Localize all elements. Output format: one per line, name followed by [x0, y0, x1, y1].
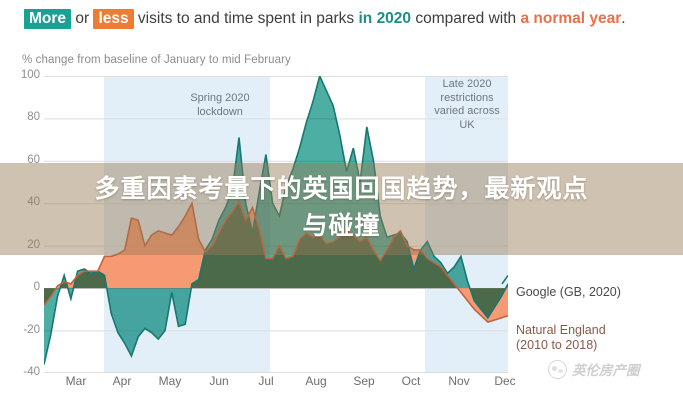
- watermark-text: 英伦房产圈: [572, 359, 640, 379]
- x-tick-oct: Oct: [402, 374, 421, 388]
- legend-natural-england: Natural England (2010 to 2018): [516, 323, 606, 353]
- y-tick-80: 80: [10, 111, 40, 123]
- annotation-late-line2: restrictions: [411, 92, 523, 106]
- page-title: More or less visits to and time spent in…: [24, 9, 664, 29]
- x-tick-mar: Mar: [66, 374, 87, 388]
- title-year-2020: in 2020: [358, 10, 411, 27]
- y-tick-neg20: -20: [10, 324, 40, 336]
- overlay-caption: 多重因素考量下的英国回国趋势，最新观点 与碰撞: [0, 170, 683, 244]
- overlay-caption-line1: 多重因素考量下的英国回国趋势，最新观点: [0, 170, 683, 207]
- title-highlight-less: less: [93, 9, 133, 29]
- annotation-late-restrictions: Late 2020 restrictions varied across UK: [411, 78, 523, 132]
- x-tick-apr: Apr: [113, 374, 132, 388]
- annotation-spring-lockdown: Spring 2020 lockdown: [160, 92, 280, 119]
- chart-screenshot: More or less visits to and time spent in…: [0, 0, 683, 400]
- annotation-late-line3: varied across: [411, 105, 523, 119]
- annotation-spring-line2: lockdown: [160, 106, 280, 120]
- x-axis-labels: Mar Apr May Jun Jul Aug Sep Oct Nov Dec: [44, 374, 514, 394]
- panda-logo-icon: [548, 360, 567, 379]
- chart-subtitle: % change from baseline of January to mid…: [22, 54, 291, 66]
- x-tick-nov: Nov: [448, 374, 469, 388]
- legend-google-label: Google (GB, 2020): [516, 285, 621, 299]
- x-tick-jun: Jun: [209, 374, 228, 388]
- title-compared-text: compared with: [411, 10, 520, 27]
- x-tick-may: May: [159, 374, 182, 388]
- watermark: 英伦房产圈: [548, 359, 640, 379]
- annotation-late-line1: Late 2020: [411, 78, 523, 92]
- legend-ne-label-line1: Natural England: [516, 323, 606, 338]
- legend-ne-label-line2: (2010 to 2018): [516, 338, 606, 353]
- overlay-caption-line2: 与碰撞: [0, 207, 683, 244]
- y-tick-0: 0: [10, 281, 40, 293]
- x-tick-jul: Jul: [258, 374, 273, 388]
- annotation-spring-line1: Spring 2020: [160, 92, 280, 106]
- x-tick-aug: Aug: [305, 374, 326, 388]
- annotation-late-line4: UK: [411, 119, 523, 133]
- title-normal-year: a normal year: [520, 10, 621, 27]
- x-tick-sep: Sep: [353, 374, 374, 388]
- title-word-or: or: [71, 10, 93, 27]
- y-tick-100: 100: [10, 69, 40, 81]
- title-highlight-more: More: [24, 9, 71, 29]
- legend-google: Google (GB, 2020): [516, 285, 621, 300]
- title-mid-text: visits to and time spent in parks: [134, 10, 359, 27]
- title-period: .: [621, 10, 625, 27]
- x-tick-dec: Dec: [494, 374, 515, 388]
- y-tick-neg40: -40: [10, 366, 40, 378]
